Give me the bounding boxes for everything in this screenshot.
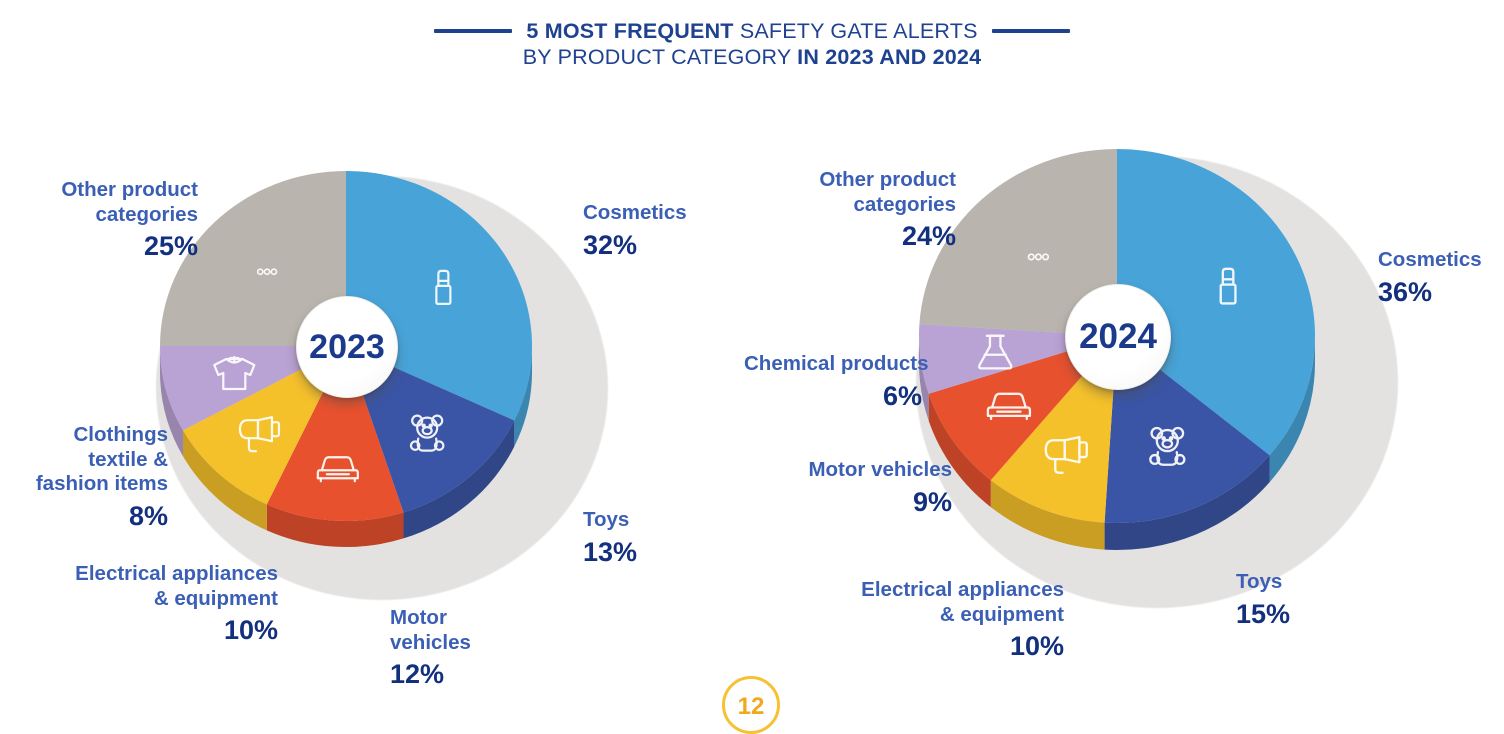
label-line: Cosmetics: [583, 201, 687, 226]
page-number-bubble: 12: [722, 676, 780, 734]
label-line: & equipment: [0, 587, 278, 612]
label-line: fashion items: [0, 472, 168, 497]
label-other-product-categories-2023: Other product categories 25%: [0, 178, 198, 263]
pie-stage-2023: Cosmetics 32%Toys 13%Motor vehicles 12%E…: [152, 150, 622, 610]
label-cosmetics-2024: Cosmetics 36%: [1378, 248, 1482, 308]
pie-chart-2023: Cosmetics 32%Toys 13%Motor vehicles 12%E…: [0, 0, 760, 705]
pie-svg-2024: Cosmetics 36%Toys 15%Electrical applianc…: [912, 128, 1412, 618]
label-line: Motor vehicles: [744, 458, 952, 483]
label-percent: 15%: [1236, 598, 1290, 630]
label-toys-2024: Toys 15%: [1236, 570, 1290, 630]
label-line: Cosmetics: [1378, 248, 1482, 273]
page-number-label: 12: [738, 693, 765, 721]
label-line: Electrical appliances: [0, 562, 278, 587]
label-line: categories: [744, 193, 956, 218]
label-percent: 9%: [744, 486, 952, 518]
label-line: Toys: [1236, 570, 1290, 595]
label-percent: 13%: [583, 536, 637, 568]
label-percent: 24%: [744, 220, 956, 252]
label-percent: 10%: [0, 614, 278, 646]
label-percent: 32%: [583, 229, 687, 261]
pie-svg-2023: Cosmetics 32%Toys 13%Motor vehicles 12%E…: [152, 150, 622, 610]
label-line: vehicles: [390, 631, 471, 656]
label-percent: 6%: [744, 380, 922, 412]
label-line: Other product: [0, 178, 198, 203]
label-percent: 12%: [390, 658, 471, 690]
label-percent: 10%: [744, 630, 1064, 662]
label-other-product-categories-2024: Other product categories 24%: [744, 168, 956, 253]
label-percent: 36%: [1378, 276, 1482, 308]
year-badge-2023: 2023: [296, 296, 398, 398]
label-line: textile &: [0, 448, 168, 473]
year-badge-label-2023: 2023: [309, 328, 385, 367]
label-chemical-products-2024: Chemical products 6%: [744, 352, 922, 412]
pie-stage-2024: Cosmetics 36%Toys 15%Electrical applianc…: [912, 128, 1412, 618]
label-toys-2023: Toys 13%: [583, 508, 637, 568]
label-line: Motor: [390, 606, 471, 631]
label-line: Clothings: [0, 423, 168, 448]
label-cosmetics-2023: Cosmetics 32%: [583, 201, 687, 261]
label-percent: 25%: [0, 230, 198, 262]
year-badge-2024: 2024: [1065, 284, 1171, 390]
label-line: Electrical appliances: [744, 578, 1064, 603]
label-line: Chemical products: [744, 352, 922, 377]
label-line: Other product: [744, 168, 956, 193]
pie-chart-2024: Cosmetics 36%Toys 15%Electrical applianc…: [744, 0, 1504, 705]
label-percent: 8%: [0, 500, 168, 532]
year-badge-label-2024: 2024: [1079, 317, 1157, 357]
label-line: & equipment: [744, 603, 1064, 628]
label-line: categories: [0, 203, 198, 228]
label-electrical-appliances-2023: Electrical appliances & equipment 10%: [0, 562, 278, 647]
label-line: Toys: [583, 508, 637, 533]
label-electrical-appliances-2024: Electrical appliances & equipment 10%: [744, 578, 1064, 663]
label-motor-vehicles-2024: Motor vehicles 9%: [744, 458, 952, 518]
label-clothings-textile-fashion-2023: Clothings textile & fashion items 8%: [0, 423, 168, 532]
label-motor-vehicles-2023: Motor vehicles 12%: [390, 606, 471, 691]
